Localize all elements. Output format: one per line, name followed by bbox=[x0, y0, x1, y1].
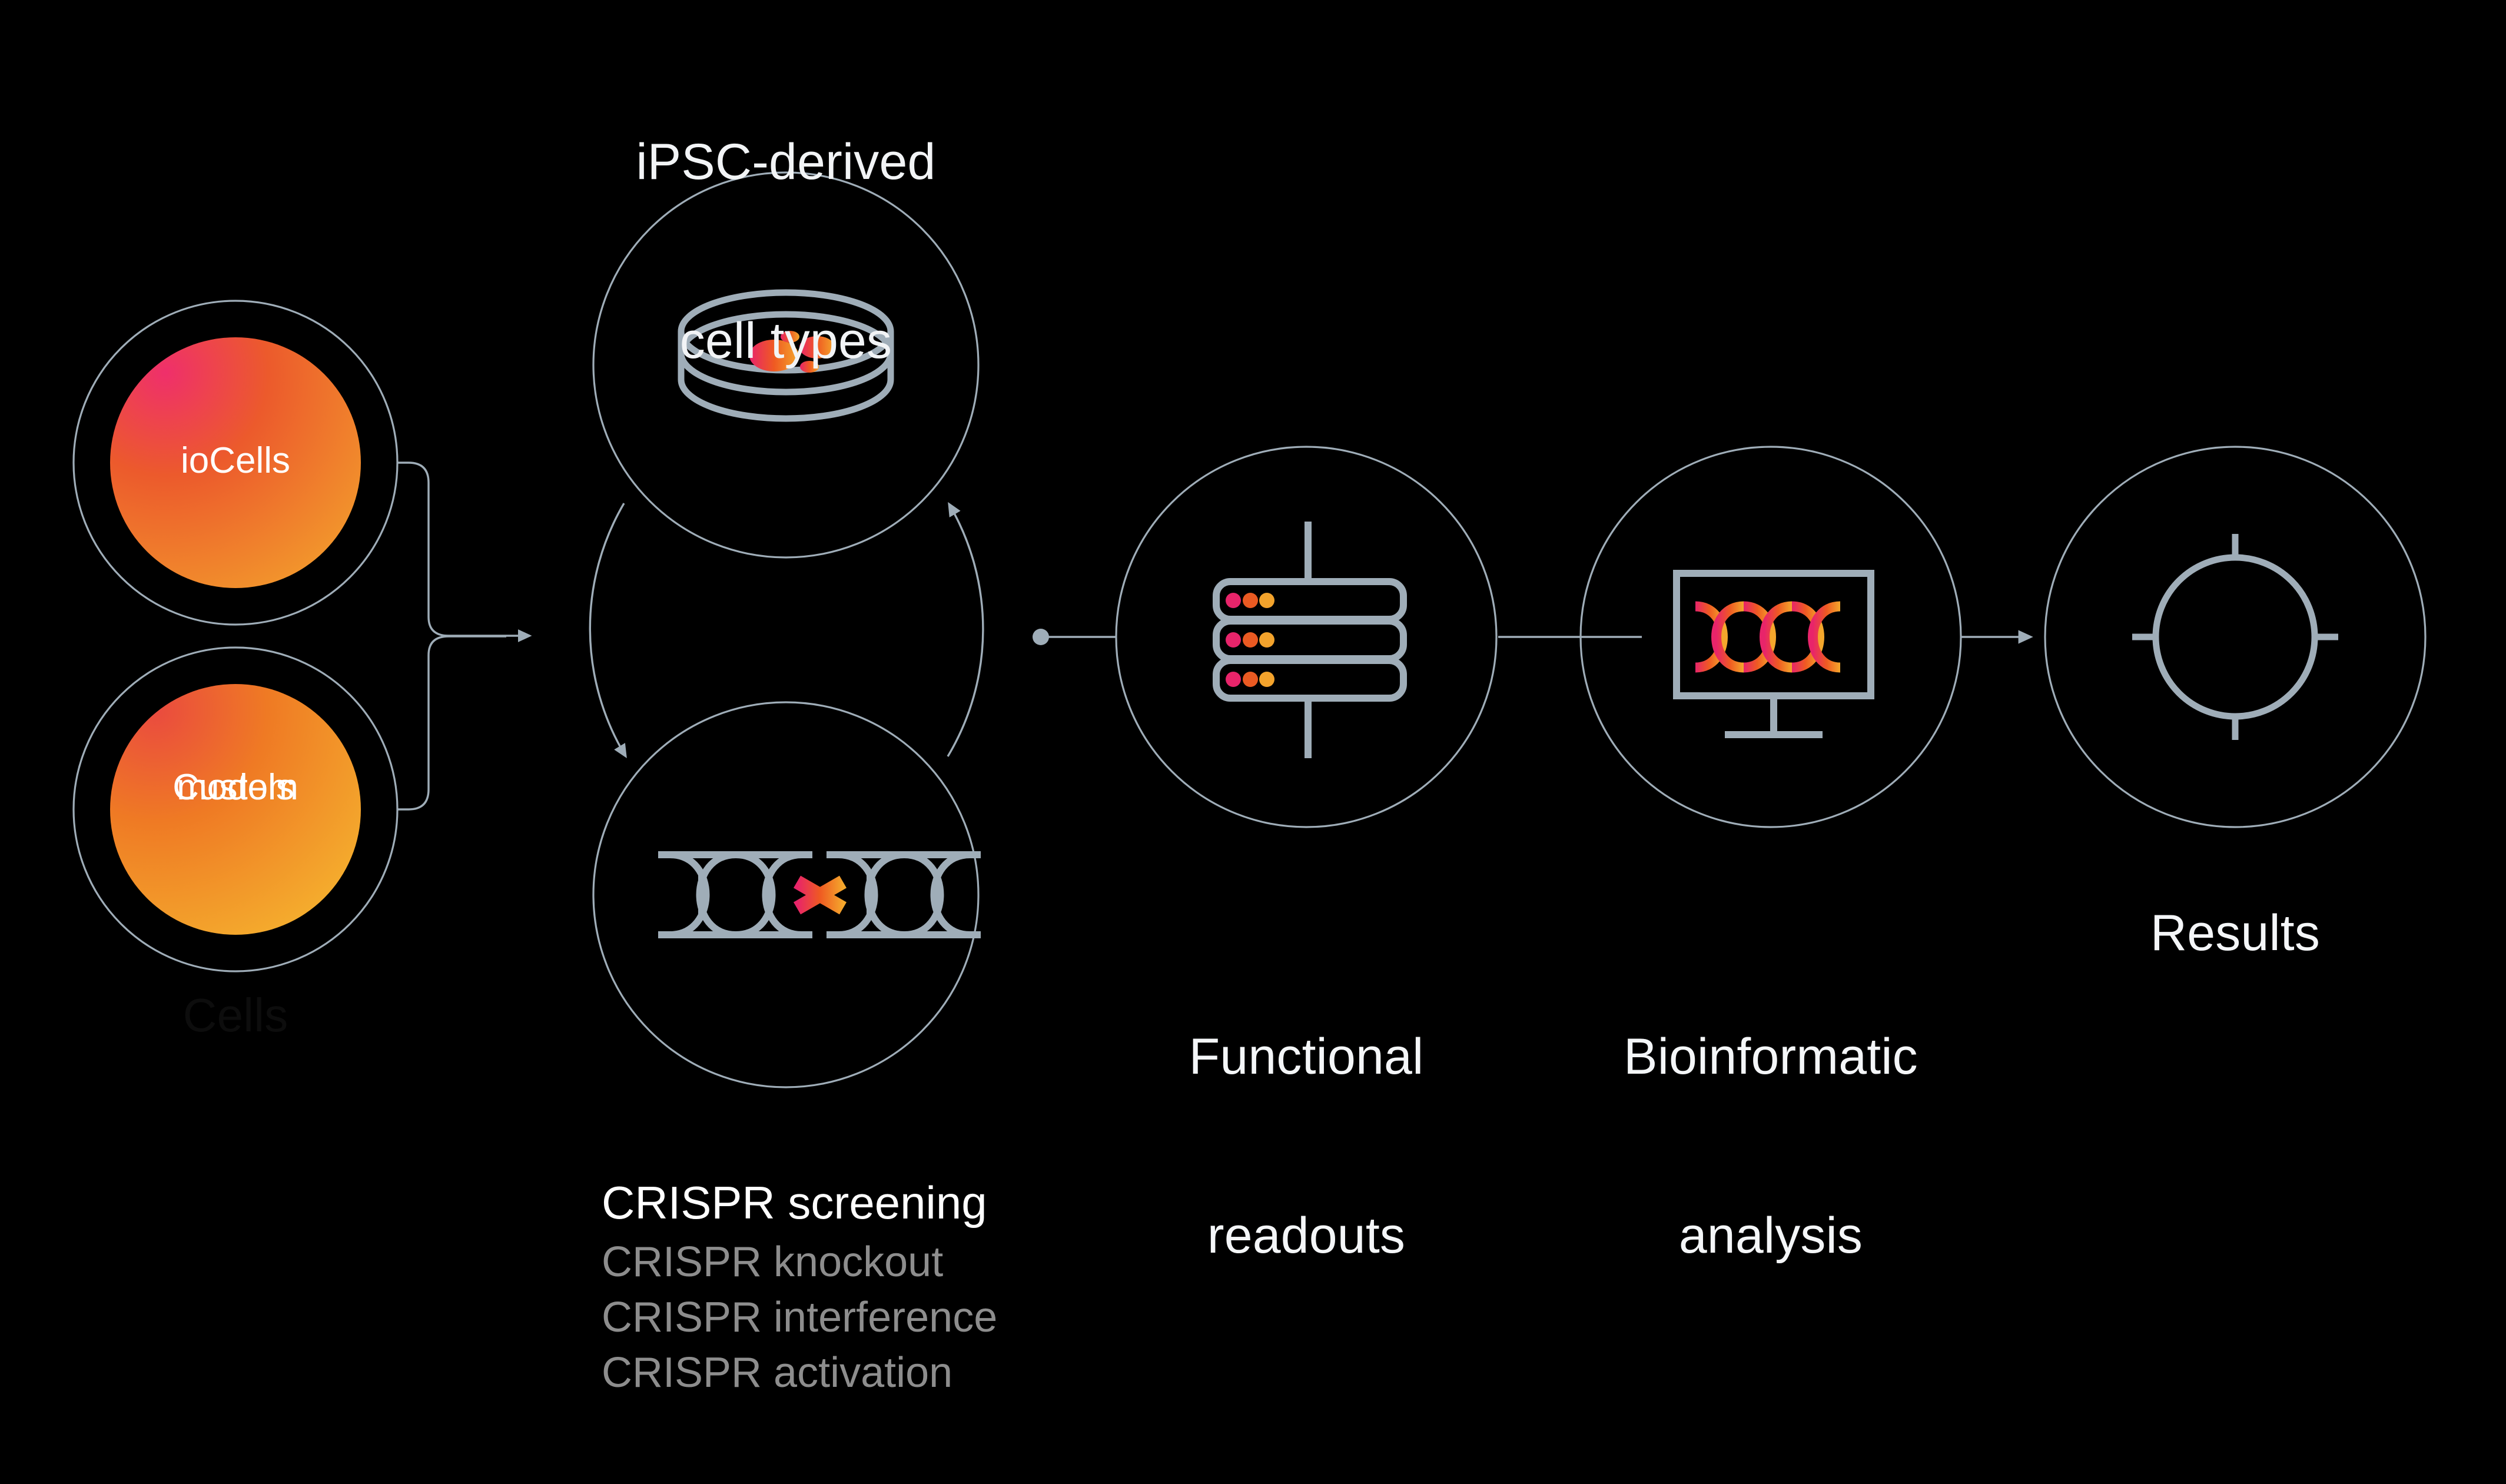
bioinformatic-analysis-line1: Bioinformatic bbox=[1624, 1027, 1918, 1087]
functional-readouts-line2: readouts bbox=[1189, 1206, 1424, 1266]
iocells-label-line1: ioCells bbox=[74, 439, 397, 483]
cycle-arrow-down bbox=[590, 503, 626, 756]
input-merge-connector bbox=[398, 463, 506, 809]
bioinformatic-analysis-label: Bioinformatic analysis bbox=[1624, 908, 1918, 1386]
crispr-item-knockout: CRISPR knockout bbox=[602, 1238, 997, 1286]
cycle-arrow-up bbox=[948, 504, 983, 756]
monitor-dna-icon bbox=[1677, 573, 1871, 735]
faint-cut-label: Cells bbox=[183, 988, 288, 1043]
target-crosshair-icon bbox=[2132, 534, 2338, 740]
crispr-screening-ring[interactable] bbox=[593, 702, 978, 1087]
results-label: Results bbox=[2150, 904, 2320, 963]
crispr-screening-block: CRISPR screening CRISPR knockout CRISPR … bbox=[602, 1176, 997, 1397]
ipsc-label-line2: cell types bbox=[636, 311, 935, 371]
crispr-item-interference: CRISPR interference bbox=[602, 1293, 997, 1342]
functional-readouts-label: Functional readouts bbox=[1189, 908, 1424, 1386]
crispr-screening-title: CRISPR screening bbox=[602, 1176, 997, 1230]
workflow-diagram: iPSC-derived cell types ioCells Custom m… bbox=[0, 0, 2506, 1484]
edit-asterisk-icon bbox=[797, 868, 843, 922]
ipsc-cell-types-label: iPSC-derived cell types bbox=[636, 13, 935, 491]
custom-models-label: Custom models bbox=[74, 765, 397, 810]
plate-stack-icon bbox=[1216, 522, 1403, 758]
custom-models-label-line2: models bbox=[74, 765, 397, 810]
crispr-item-activation: CRISPR activation bbox=[602, 1349, 997, 1397]
ipsc-label-line1: iPSC-derived bbox=[636, 132, 935, 192]
functional-readouts-line1: Functional bbox=[1189, 1027, 1424, 1087]
plate-wells bbox=[1226, 593, 1274, 687]
bioinformatic-analysis-line2: analysis bbox=[1624, 1206, 1918, 1266]
